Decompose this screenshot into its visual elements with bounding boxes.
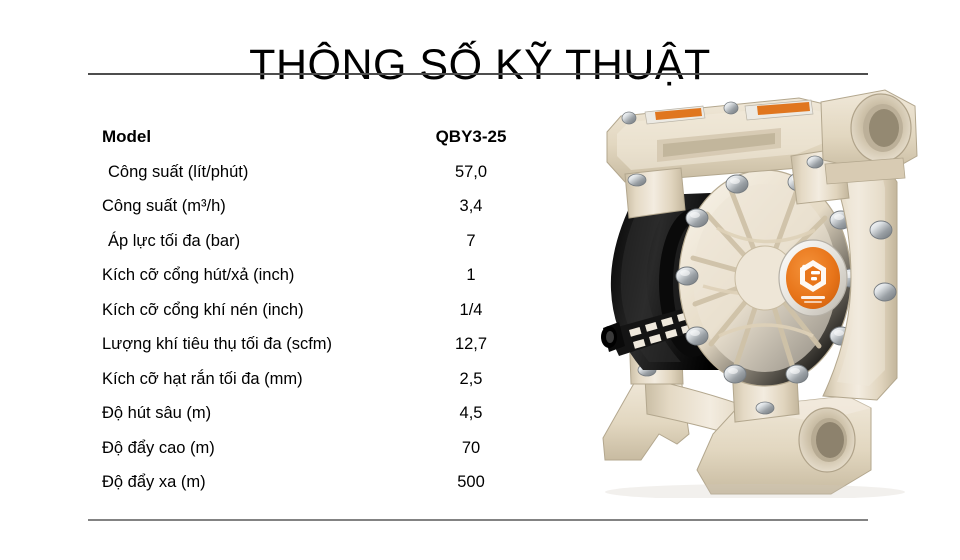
spec-value: 70: [406, 431, 536, 466]
spec-label: Kích cỡ cổng khí nén (inch): [102, 293, 304, 328]
table-row: Độ hút sâu (m) 4,5: [96, 396, 551, 431]
spec-label: Công suất (lít/phút): [108, 155, 248, 190]
table-row: Kích cỡ cổng khí nén (inch) 1/4: [96, 293, 551, 328]
discharge-port: [821, 90, 917, 184]
table-header-row: Model QBY3-25: [96, 120, 551, 155]
specification-table: Model QBY3-25 Công suất (lít/phút) 57,0 …: [96, 120, 551, 500]
technical-specification-page: THÔNG SỐ KỸ THUẬT Model QBY3-25 Công suấ…: [0, 0, 960, 560]
spec-value: 2,5: [406, 362, 536, 397]
spec-value: 57,0: [406, 155, 536, 190]
spec-value: 12,7: [406, 327, 536, 362]
spec-label: Lượng khí tiêu thụ tối đa (scfm): [102, 327, 332, 362]
spec-label: Kích cỡ cổng hút/xả (inch): [102, 258, 294, 293]
product-photo-pump: [585, 78, 935, 498]
table-row: Kích cỡ hạt rắn tối đa (mm) 2,5: [96, 362, 551, 397]
spec-label: Công suất (m³/h): [102, 189, 226, 224]
brand-logo-badge: [779, 240, 847, 316]
table-row: Lượng khí tiêu thụ tối đa (scfm) 12,7: [96, 327, 551, 362]
spec-value: 1/4: [406, 293, 536, 328]
divider-bottom: [88, 519, 868, 521]
table-row: Độ đẩy xa (m) 500: [96, 465, 551, 500]
title-divider-top: [88, 73, 868, 75]
table-row: Áp lực tối đa (bar) 7: [96, 224, 551, 259]
table-row: Kích cỡ cổng hút/xả (inch) 1: [96, 258, 551, 293]
spec-value: 3,4: [406, 189, 536, 224]
table-row: Công suất (m³/h) 3,4: [96, 189, 551, 224]
spec-value: 500: [406, 465, 536, 500]
spec-label: Độ đẩy xa (m): [102, 465, 206, 500]
spec-label: Độ hút sâu (m): [102, 396, 211, 431]
table-header-value: QBY3-25: [406, 120, 536, 155]
spec-label: Áp lực tối đa (bar): [108, 224, 240, 259]
spec-value: 4,5: [406, 396, 536, 431]
table-header-label: Model: [102, 120, 151, 155]
table-row: Độ đẩy cao (m) 70: [96, 431, 551, 466]
spec-value: 1: [406, 258, 536, 293]
spec-label: Độ đẩy cao (m): [102, 431, 215, 466]
spec-value: 7: [406, 224, 536, 259]
spec-label: Kích cỡ hạt rắn tối đa (mm): [102, 362, 303, 397]
table-row: Công suất (lít/phút) 57,0: [96, 155, 551, 190]
